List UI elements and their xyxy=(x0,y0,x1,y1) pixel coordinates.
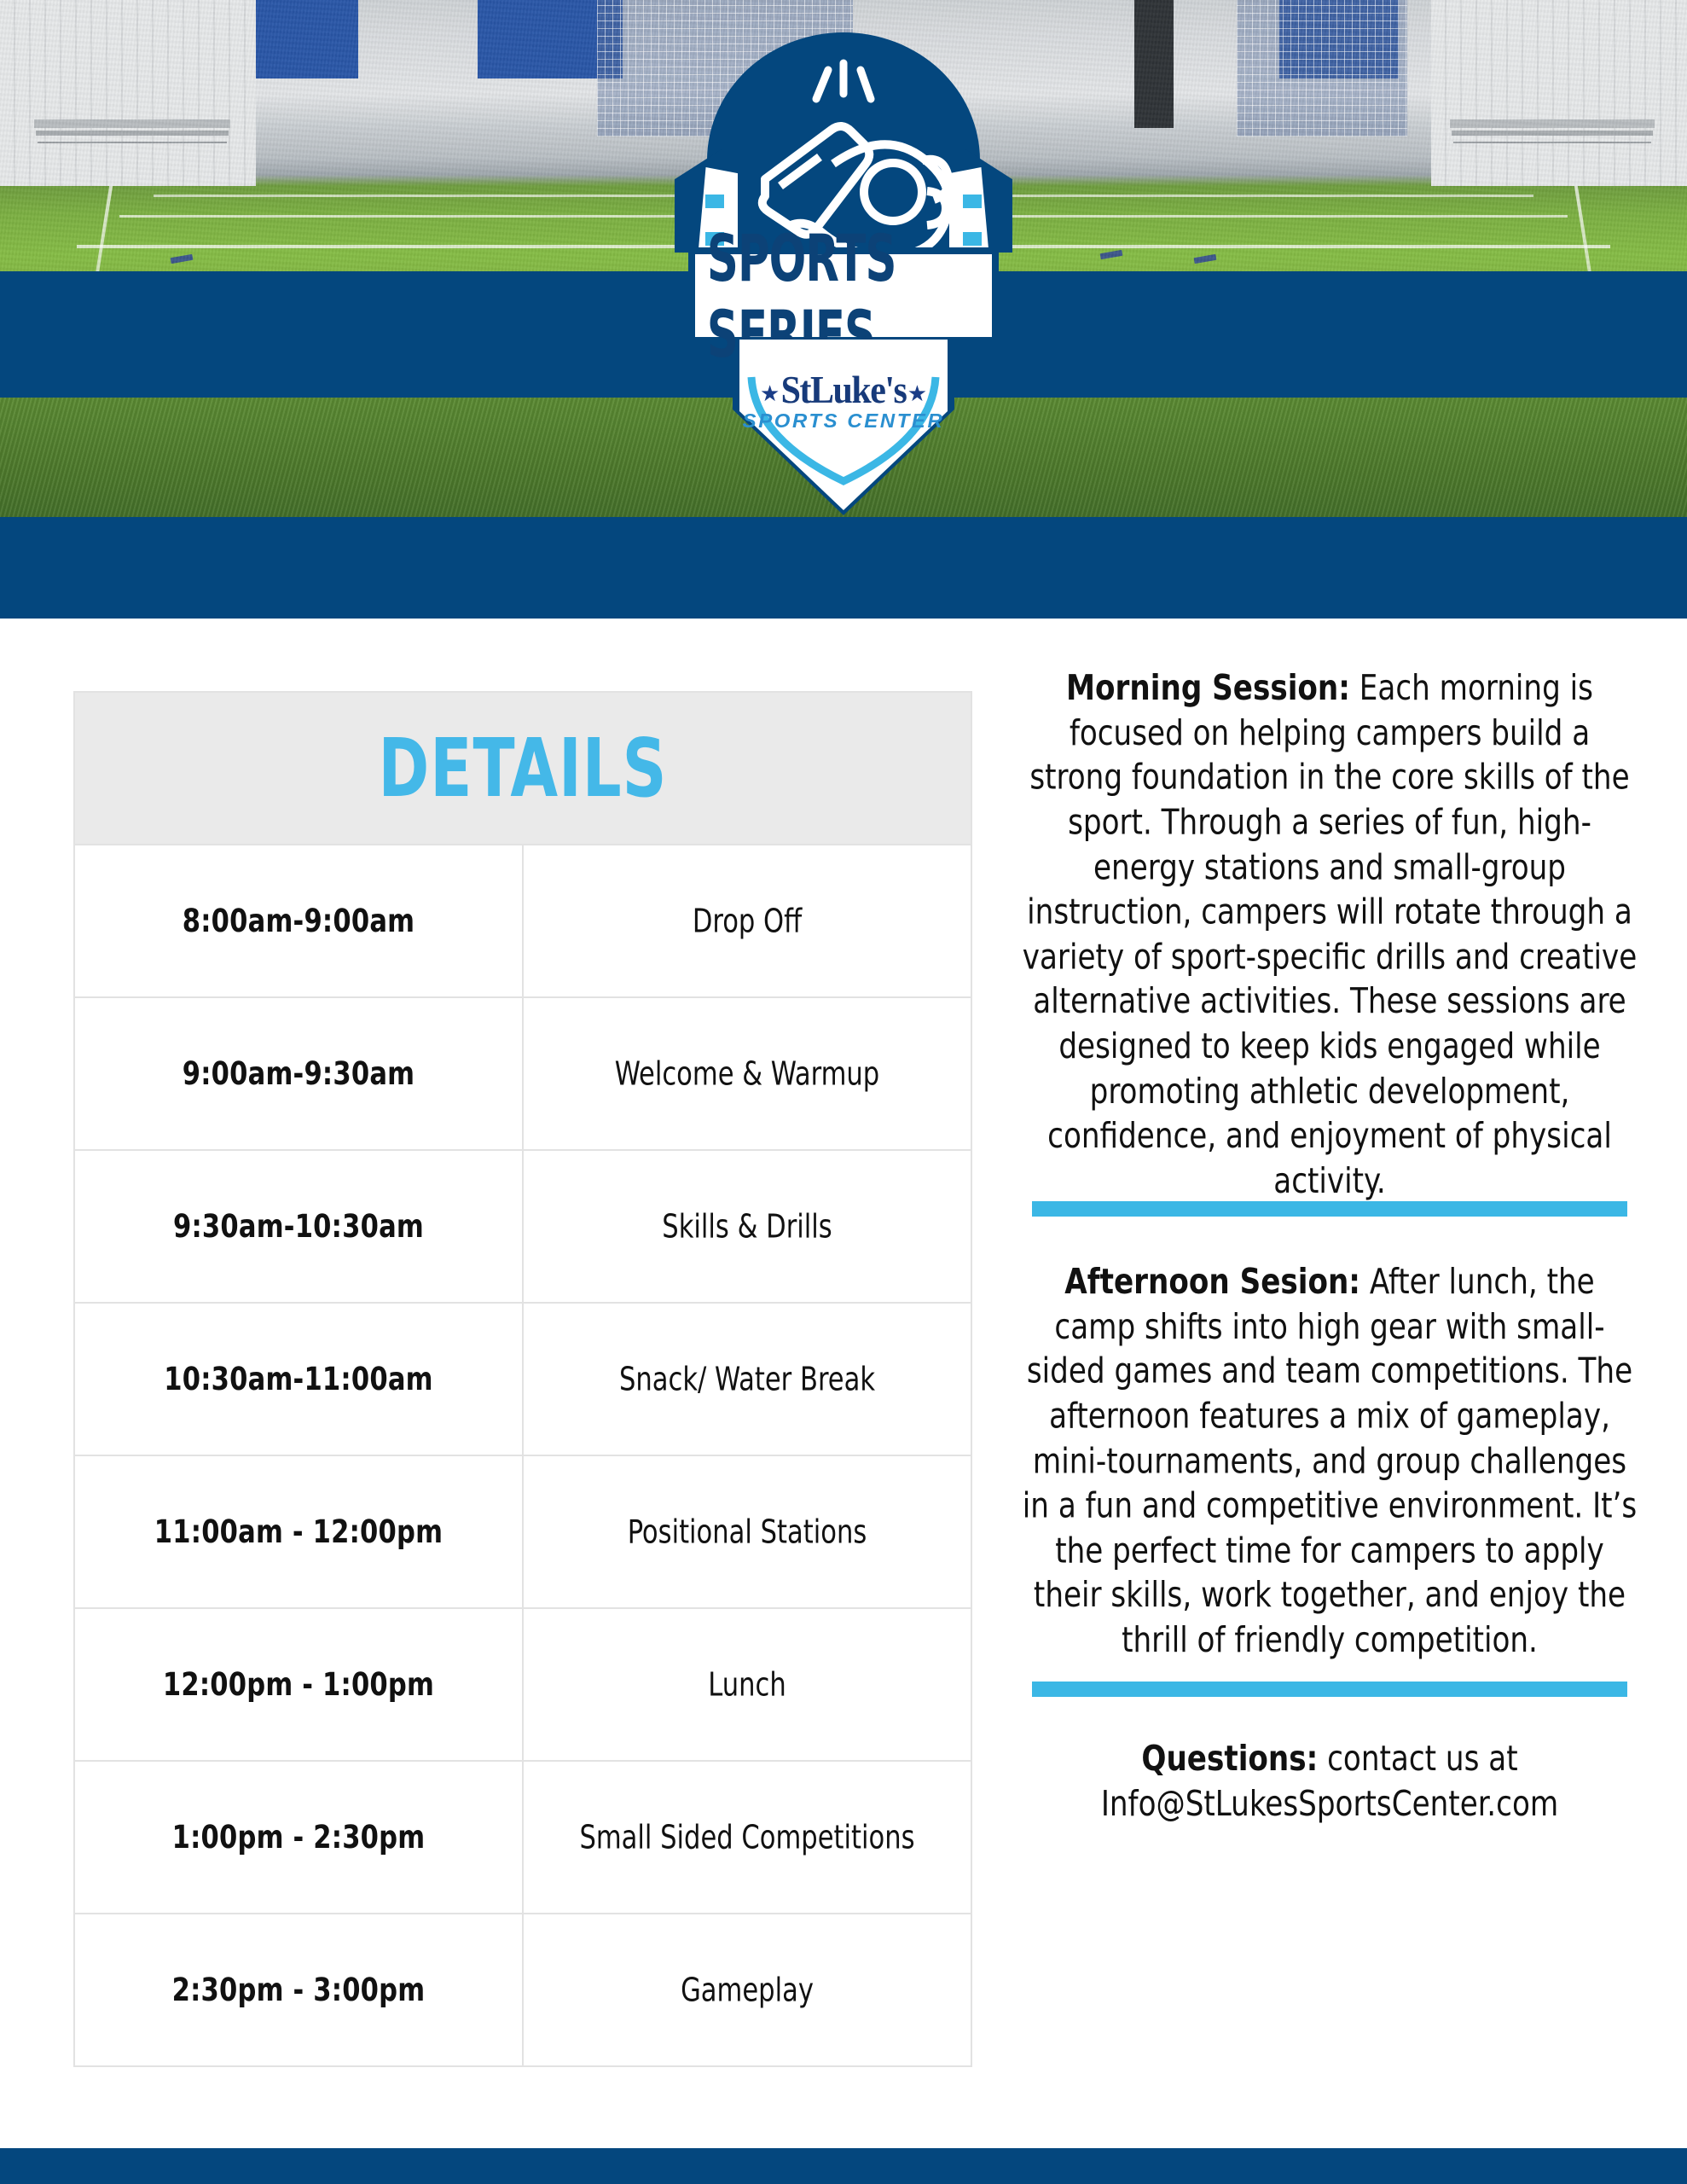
schedule-time-text: 2:30pm - 3:00pm xyxy=(172,1972,426,2009)
afternoon-session-label: Afternoon Sesion: xyxy=(1064,1261,1360,1302)
morning-session-paragraph: Morning Session: Each morning is focused… xyxy=(1022,665,1638,1203)
facility-wall-right xyxy=(1431,0,1687,186)
table-row: 1:00pm - 2:30pmSmall Sided Competitions xyxy=(74,1761,971,1914)
schedule-activity-text: Positional Stations xyxy=(628,1513,867,1551)
spacer xyxy=(1022,1217,1638,1259)
details-title: DETAILS xyxy=(379,722,668,816)
schedule-activity-text: Snack/ Water Break xyxy=(619,1360,875,1398)
wall-pad-right xyxy=(1279,0,1399,78)
schedule-activity-cell: Welcome & Warmup xyxy=(523,997,971,1150)
schedule-time-cell: 11:00am - 12:00pm xyxy=(74,1455,523,1608)
schedule-activity-cell: Drop Off xyxy=(523,845,971,997)
schedule-time-cell: 2:30pm - 3:00pm xyxy=(74,1914,523,2066)
schedule-time-text: 9:30am-10:30am xyxy=(173,1208,424,1246)
schedule-activity-text: Small Sided Competitions xyxy=(579,1818,914,1856)
table-row: 8:00am-9:00amDrop Off xyxy=(74,845,971,997)
table-row: 2:30pm - 3:00pmGameplay xyxy=(74,1914,971,2066)
questions-paragraph: Questions: contact us at Info@StLukesSpo… xyxy=(1022,1736,1638,1826)
schedule-time-text: 8:00am-9:00am xyxy=(183,903,415,940)
schedule-time-cell: 12:00pm - 1:00pm xyxy=(74,1608,523,1761)
bleacher-right xyxy=(1450,119,1655,128)
schedule-activity-cell: Lunch xyxy=(523,1608,971,1761)
footer-bar xyxy=(0,2148,1687,2184)
divider-rule-2 xyxy=(1032,1682,1627,1697)
brand-name: StLuke's xyxy=(664,369,1023,413)
table-row: 9:30am-10:30amSkills & Drills xyxy=(74,1150,971,1303)
schedule-activity-cell: Skills & Drills xyxy=(523,1150,971,1303)
bleacher-left xyxy=(34,119,230,128)
schedule-time-text: 11:00am - 12:00pm xyxy=(154,1513,443,1551)
schedule-time-text: 12:00pm - 1:00pm xyxy=(163,1666,434,1704)
schedule-time-cell: 9:00am-9:30am xyxy=(74,997,523,1150)
schedule-table: DETAILS 8:00am-9:00amDrop Off9:00am-9:30… xyxy=(73,691,972,2067)
schedule-activity-text: Skills & Drills xyxy=(662,1207,832,1246)
table-row: 10:30am-11:00amSnack/ Water Break xyxy=(74,1303,971,1455)
schedule-time-cell: 10:30am-11:00am xyxy=(74,1303,523,1455)
brand-subtitle: SPORTS CENTER xyxy=(658,409,1030,433)
morning-session-label: Morning Session: xyxy=(1066,667,1350,708)
afternoon-session-paragraph: Afternoon Sesion: After lunch, the camp … xyxy=(1022,1259,1638,1663)
schedule-activity-text: Gameplay xyxy=(681,1971,814,2009)
table-row: 12:00pm - 1:00pmLunch xyxy=(74,1608,971,1761)
schedule-header-row: DETAILS xyxy=(74,692,971,845)
schedule-activity-cell: Gameplay xyxy=(523,1914,971,2066)
hash-mark xyxy=(1194,254,1217,264)
schedule-time-text: 10:30am-11:00am xyxy=(164,1361,432,1398)
afternoon-session-body: After lunch, the camp shifts into high g… xyxy=(1023,1261,1637,1660)
header-banner: SPORTS SERIES ★ ★ StLuke's SPORTS CENTER xyxy=(0,0,1687,619)
hash-mark xyxy=(1100,250,1123,259)
details-header-cell: DETAILS xyxy=(74,692,971,845)
schedule-activity-cell: Small Sided Competitions xyxy=(523,1761,971,1914)
table-row: 11:00am - 12:00pmPositional Stations xyxy=(74,1455,971,1608)
schedule-time-cell: 9:30am-10:30am xyxy=(74,1150,523,1303)
schedule-time-cell: 8:00am-9:00am xyxy=(74,845,523,997)
hash-mark xyxy=(171,254,194,264)
whistle-icon xyxy=(664,51,1023,247)
schedule-activity-text: Welcome & Warmup xyxy=(615,1054,879,1093)
info-column: Morning Session: Each morning is focused… xyxy=(1022,665,1638,1819)
goal-net-right xyxy=(1237,0,1407,136)
morning-session-body: Each morning is focused on helping campe… xyxy=(1023,667,1638,1200)
schedule-activity-text: Drop Off xyxy=(693,902,802,940)
facility-wall-left xyxy=(0,0,256,186)
questions-label: Questions: xyxy=(1141,1738,1318,1779)
table-row: 9:00am-9:30amWelcome & Warmup xyxy=(74,997,971,1150)
schedule-activity-text: Lunch xyxy=(708,1665,786,1704)
wall-pad-left xyxy=(256,0,358,78)
schedule-time-cell: 1:00pm - 2:30pm xyxy=(74,1761,523,1914)
page-content: DETAILS 8:00am-9:00amDrop Off9:00am-9:30… xyxy=(0,619,1687,2148)
page-title: SPORTS SERIES xyxy=(707,245,980,346)
schedule-activity-cell: Snack/ Water Break xyxy=(523,1303,971,1455)
divider-curtain xyxy=(1134,0,1174,128)
schedule-time-text: 1:00pm - 2:30pm xyxy=(172,1819,426,1856)
wall-pad-center-left xyxy=(478,0,623,78)
schedule-time-text: 9:00am-9:30am xyxy=(183,1055,415,1093)
spacer xyxy=(1022,1697,1638,1736)
divider-rule-1 xyxy=(1032,1201,1627,1217)
sports-series-title-plate: SPORTS SERIES xyxy=(688,247,999,344)
sports-series-crest: SPORTS SERIES ★ ★ StLuke's SPORTS CENTER xyxy=(664,24,1023,578)
schedule-activity-cell: Positional Stations xyxy=(523,1455,971,1608)
